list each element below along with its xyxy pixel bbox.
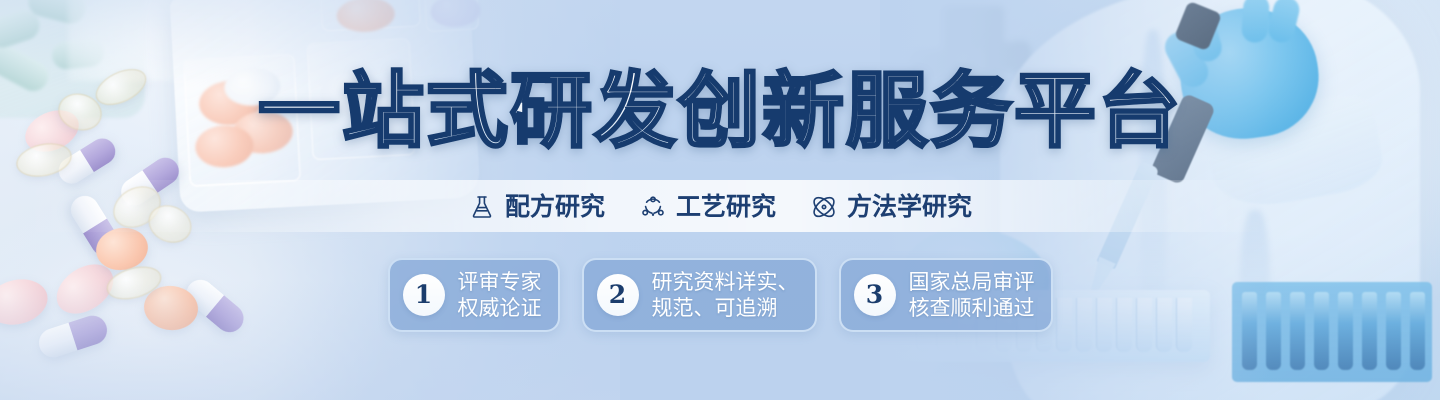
service-label: 配方研究	[505, 192, 605, 222]
service-list: 配方研究 工艺研究	[0, 188, 1440, 226]
feature-card-3[interactable]: 3 国家总局审评 核查顺利通过	[839, 258, 1053, 332]
banner-content: 一站式研发创新服务平台 配方研究	[0, 0, 1440, 400]
feature-number-badge: 1	[403, 274, 445, 316]
feature-card-2[interactable]: 2 研究资料详实、 规范、可追溯	[582, 258, 817, 332]
service-label: 工艺研究	[676, 192, 776, 222]
service-item-methodology[interactable]: 方法学研究	[810, 192, 972, 222]
feature-line-1: 评审专家	[458, 269, 542, 295]
feature-text: 研究资料详实、 规范、可追溯	[652, 269, 799, 321]
feature-line-1: 研究资料详实、	[652, 269, 799, 295]
feature-card-1[interactable]: 1 评审专家 权威论证	[388, 258, 560, 332]
feature-list: 1 评审专家 权威论证 2 研究资料详实、 规范、可追溯 3 国家总局审评 核查…	[0, 258, 1440, 332]
banner-title: 一站式研发创新服务平台	[0, 64, 1440, 160]
feature-line-1: 国家总局审评	[909, 269, 1035, 295]
molecule-icon	[639, 193, 667, 221]
feature-line-2: 核查顺利通过	[909, 295, 1035, 321]
atom-icon	[810, 193, 838, 221]
promo-banner: 一站式研发创新服务平台 配方研究	[0, 0, 1440, 400]
service-item-process[interactable]: 工艺研究	[639, 192, 776, 222]
feature-line-2: 规范、可追溯	[652, 295, 799, 321]
service-label: 方法学研究	[847, 192, 972, 222]
feature-number-badge: 2	[597, 274, 639, 316]
flask-icon	[468, 193, 496, 221]
feature-number-badge: 3	[854, 274, 896, 316]
service-item-formulation[interactable]: 配方研究	[468, 192, 605, 222]
feature-text: 国家总局审评 核查顺利通过	[909, 269, 1035, 321]
feature-text: 评审专家 权威论证	[458, 269, 542, 321]
feature-line-2: 权威论证	[458, 295, 542, 321]
